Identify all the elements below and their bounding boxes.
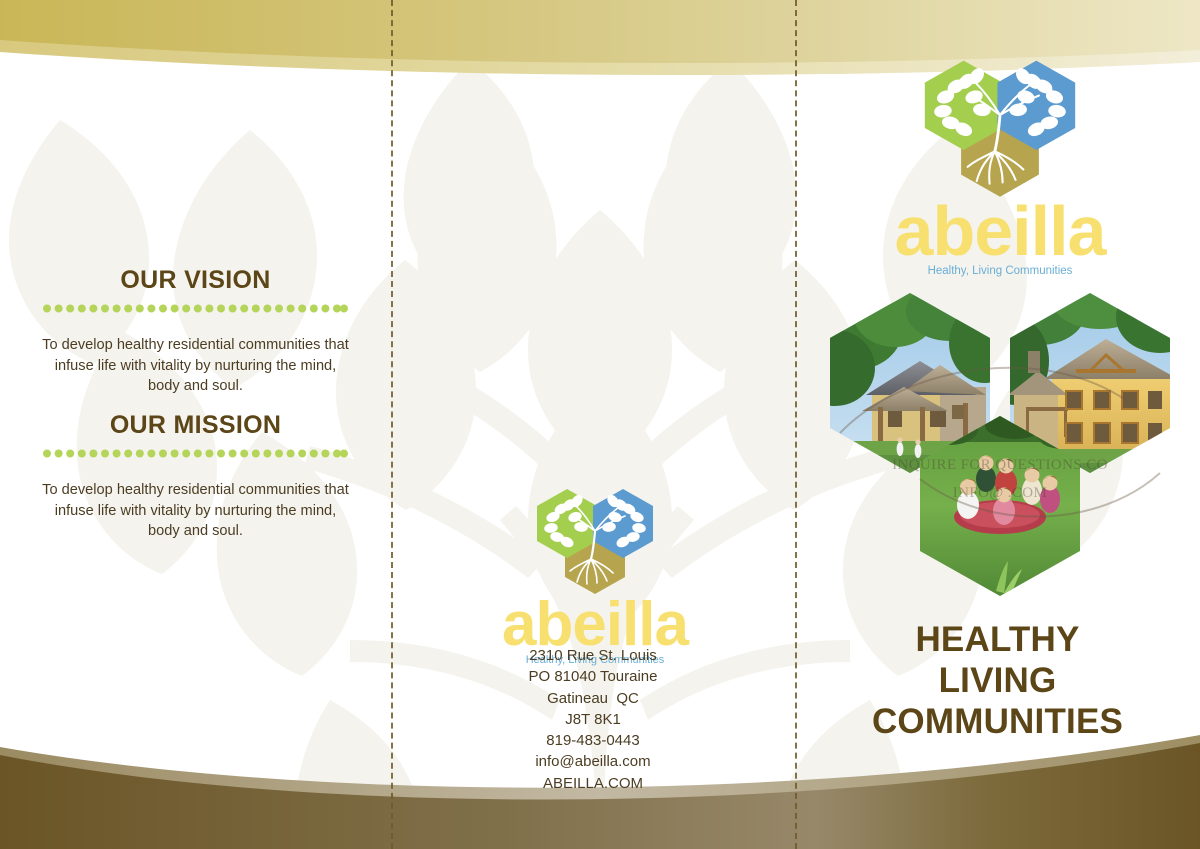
watermark-line-2: INFO@ .COM [953,485,1048,501]
logo-wordmark-large: abeilla [880,200,1120,263]
contact-website[interactable]: ABEILLA.COM [391,773,795,794]
hexagon-photo-cluster: INQUIRE FOR QUESTIONS CO INFO@ .COM [800,283,1200,613]
watermark-line-1: INQUIRE FOR QUESTIONS CO [892,457,1108,473]
contact-block: 2310 Rue St. Louis PO 81040 Touraine Gat… [391,645,795,794]
headline-line-3: COMMUNITIES [795,702,1200,743]
page-title: HEALTHY LIVING COMMUNITIES [795,620,1200,743]
contact-phone[interactable]: 819-483-0443 [391,730,795,751]
contact-po-box: PO 81040 Touraine [391,666,795,687]
logo-center: abeilla Healthy, Living Communities [475,487,715,666]
mission-block: OUR MISSION [40,411,351,542]
vision-dot-divider [43,304,348,313]
contact-city: Gatineau QC [391,688,795,709]
headline-line-1: HEALTHY [795,620,1200,661]
abeilla-hexagon-logo-icon-large [915,58,1085,198]
logo-right: abeilla Healthy, Living Communities [880,58,1120,277]
vision-block: OUR VISION [40,266,351,397]
mission-dot-divider [43,449,348,458]
contact-postal-code: J8T 8K1 [391,709,795,730]
contact-street: 2310 Rue St. Louis [391,645,795,666]
vision-heading: OUR VISION [40,266,351,295]
mission-heading: OUR MISSION [40,411,351,440]
headline-line-2: LIVING [795,661,1200,702]
mission-body: To develop healthy residential communiti… [41,480,351,542]
vision-body: To develop healthy residential communiti… [41,335,351,397]
panel-left: OUR VISION [0,0,391,849]
brochure-page: OUR VISION [0,0,1200,849]
abeilla-hexagon-logo-icon [531,487,659,595]
contact-email[interactable]: info@abeilla.com [391,751,795,772]
